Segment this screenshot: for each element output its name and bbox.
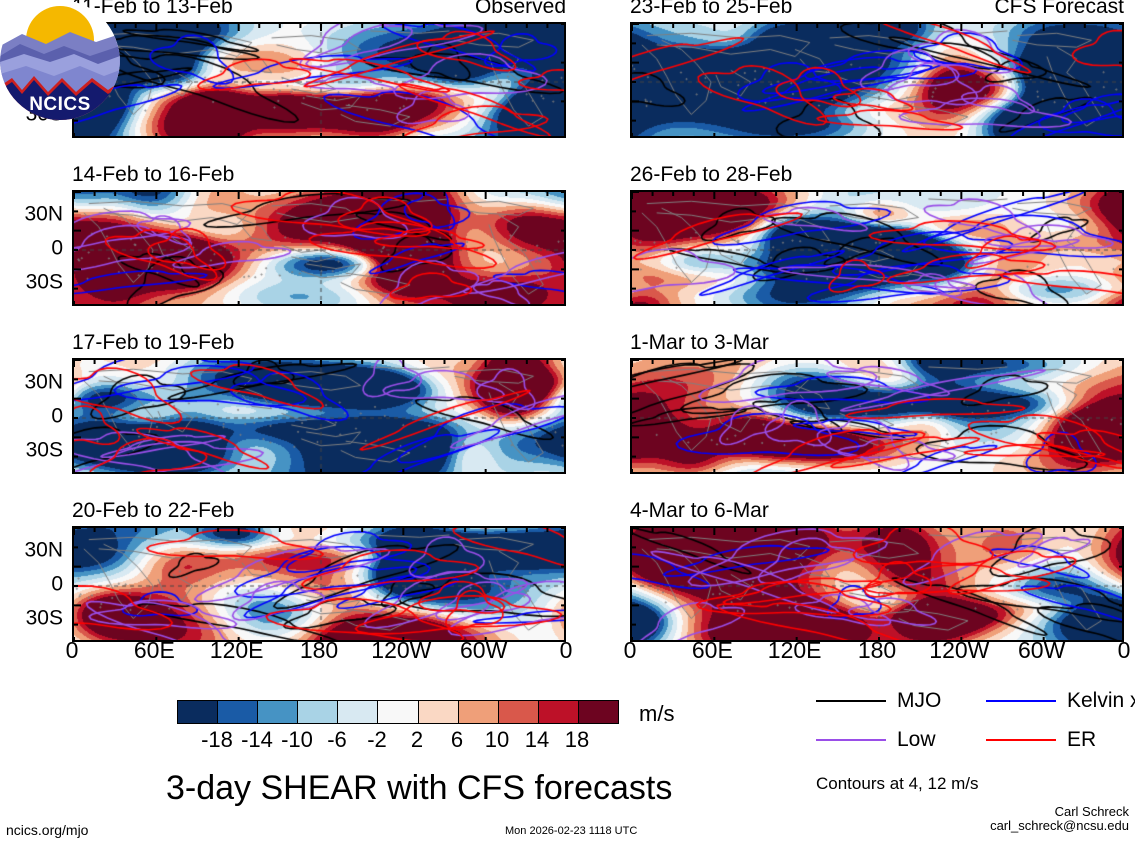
colorbar xyxy=(177,700,619,724)
colorbar-segment xyxy=(578,701,618,723)
colorbar-segment xyxy=(458,701,498,723)
panel-1: 11-Feb to 13-FebObserved30N030S xyxy=(72,22,566,138)
generation-timestamp: Mon 2026-02-23 1118 UTC xyxy=(505,826,637,837)
colorbar-tick-label: 10 xyxy=(485,729,509,751)
map-plot xyxy=(630,22,1124,138)
map-plot xyxy=(72,358,566,474)
x-axis-tick-label: 120E xyxy=(210,639,264,662)
y-axis-tick-label: 0 xyxy=(51,238,63,259)
legend-item-kelvin: Kelvin x2 xyxy=(986,690,1135,711)
colorbar-tick-label: -18 xyxy=(201,729,233,751)
x-axis-tick-label: 120E xyxy=(768,639,822,662)
colorbar-tick-label: -6 xyxy=(327,729,347,751)
contours-note: Contours at 4, 12 m/s xyxy=(816,775,979,792)
colorbar-segment xyxy=(418,701,458,723)
y-axis-tick-label: 30S xyxy=(26,439,63,460)
colorbar-segment xyxy=(297,701,337,723)
y-axis-tick-label: 0 xyxy=(51,574,63,595)
panel-title: 4-Mar to 6-Mar xyxy=(630,500,769,521)
map-plot xyxy=(630,526,1124,642)
x-axis-tick-label: 60E xyxy=(134,639,175,662)
colorbar-segment xyxy=(217,701,257,723)
site-url[interactable]: ncics.org/mjo xyxy=(6,823,88,837)
panel-5: 17-Feb to 19-Feb30N030S xyxy=(72,358,566,474)
legend-label-mjo: MJO xyxy=(897,690,941,711)
panel-title: 20-Feb to 22-Feb xyxy=(72,500,234,521)
x-axis-tick-label: 60W xyxy=(1018,639,1065,662)
x-axis-tick-label: 0 xyxy=(624,639,637,662)
y-axis-tick-label: 30N xyxy=(24,540,63,561)
legend-item-low: Low xyxy=(816,729,936,750)
colorbar-segment xyxy=(337,701,377,723)
y-axis-tick-label: 30S xyxy=(26,607,63,628)
x-axis-left: 060E120E180120W60W0 xyxy=(72,639,566,665)
y-axis-tick-label: 30S xyxy=(26,271,63,292)
y-axis-tick-label: 0 xyxy=(51,406,63,427)
y-axis-tick-label: 30N xyxy=(24,204,63,225)
panel-title: 26-Feb to 28-Feb xyxy=(630,164,792,185)
shear-anomaly-field xyxy=(632,528,1124,642)
shear-anomaly-field xyxy=(74,360,566,474)
legend-line-kelvin xyxy=(986,700,1056,702)
column-label-observed: Observed xyxy=(475,0,566,17)
panel-7: 20-Feb to 22-Feb30N030S xyxy=(72,526,566,642)
map-plot xyxy=(630,358,1124,474)
y-axis-tick-label: 30N xyxy=(24,372,63,393)
map-plot xyxy=(630,190,1124,306)
author-name: Carl Schreck xyxy=(990,805,1129,819)
panel-2: 23-Feb to 25-FebCFS Forecast xyxy=(630,22,1124,138)
shear-anomaly-field xyxy=(74,528,566,642)
panel-title: 1-Mar to 3-Mar xyxy=(630,332,769,353)
panel-title: 14-Feb to 16-Feb xyxy=(72,164,234,185)
shear-anomaly-field xyxy=(632,360,1124,474)
x-axis-tick-label: 0 xyxy=(560,639,573,662)
shear-anomaly-field xyxy=(74,192,566,306)
colorbar-tick-label: -14 xyxy=(241,729,273,751)
panel-4: 26-Feb to 28-Feb xyxy=(630,190,1124,306)
panel-title: 17-Feb to 19-Feb xyxy=(72,332,234,353)
column-label-forecast: CFS Forecast xyxy=(994,0,1124,17)
shear-anomaly-field xyxy=(632,192,1124,306)
x-axis-tick-label: 0 xyxy=(66,639,79,662)
x-axis-tick-label: 60W xyxy=(460,639,507,662)
colorbar-tick-label: 18 xyxy=(565,729,589,751)
legend-item-er: ER xyxy=(986,729,1096,750)
colorbar-segment xyxy=(538,701,578,723)
legend-line-er xyxy=(986,739,1056,741)
legend-label-kelvin: Kelvin x2 xyxy=(1067,690,1135,711)
panel-title: 23-Feb to 25-Feb xyxy=(630,0,792,17)
colorbar-segment xyxy=(178,701,217,723)
map-plot xyxy=(72,526,566,642)
x-axis-tick-label: 60E xyxy=(692,639,733,662)
x-axis-tick-label: 120W xyxy=(929,639,989,662)
ncics-logo: NCICS xyxy=(0,0,120,125)
colorbar-segment xyxy=(257,701,297,723)
x-axis-tick-label: 120W xyxy=(371,639,431,662)
colorbar-tick-label: -2 xyxy=(367,729,387,751)
x-axis-tick-label: 180 xyxy=(300,639,338,662)
ncics-logo-text: NCICS xyxy=(0,94,120,116)
colorbar-tick-label: -10 xyxy=(281,729,313,751)
colorbar-tick-label: 14 xyxy=(525,729,549,751)
panel-8: 4-Mar to 6-Mar xyxy=(630,526,1124,642)
panel-3: 14-Feb to 16-Feb30N030S xyxy=(72,190,566,306)
legend-item-mjo: MJO xyxy=(816,690,941,711)
map-plot xyxy=(72,190,566,306)
colorbar-tick-label: 2 xyxy=(411,729,423,751)
shear-anomaly-field xyxy=(74,24,566,138)
colorbar-tick-label: 6 xyxy=(451,729,463,751)
shear-anomaly-field xyxy=(632,24,1124,138)
colorbar-segment xyxy=(498,701,538,723)
map-plot xyxy=(72,22,566,138)
legend-label-low: Low xyxy=(897,729,936,750)
main-title: 3-day SHEAR with CFS forecasts xyxy=(166,771,672,805)
legend-label-er: ER xyxy=(1067,729,1096,750)
colorbar-segment xyxy=(377,701,417,723)
author-block: Carl Schreck carl_schreck@ncsu.edu xyxy=(990,805,1129,833)
x-axis-tick-label: 0 xyxy=(1118,639,1131,662)
legend-line-low xyxy=(816,739,886,741)
legend-line-mjo xyxy=(816,700,886,702)
colorbar-unit-label: m/s xyxy=(639,703,674,725)
panel-6: 1-Mar to 3-Mar xyxy=(630,358,1124,474)
x-axis-right: 060E120E180120W60W0 xyxy=(630,639,1124,665)
x-axis-tick-label: 180 xyxy=(858,639,896,662)
author-email[interactable]: carl_schreck@ncsu.edu xyxy=(990,819,1129,833)
